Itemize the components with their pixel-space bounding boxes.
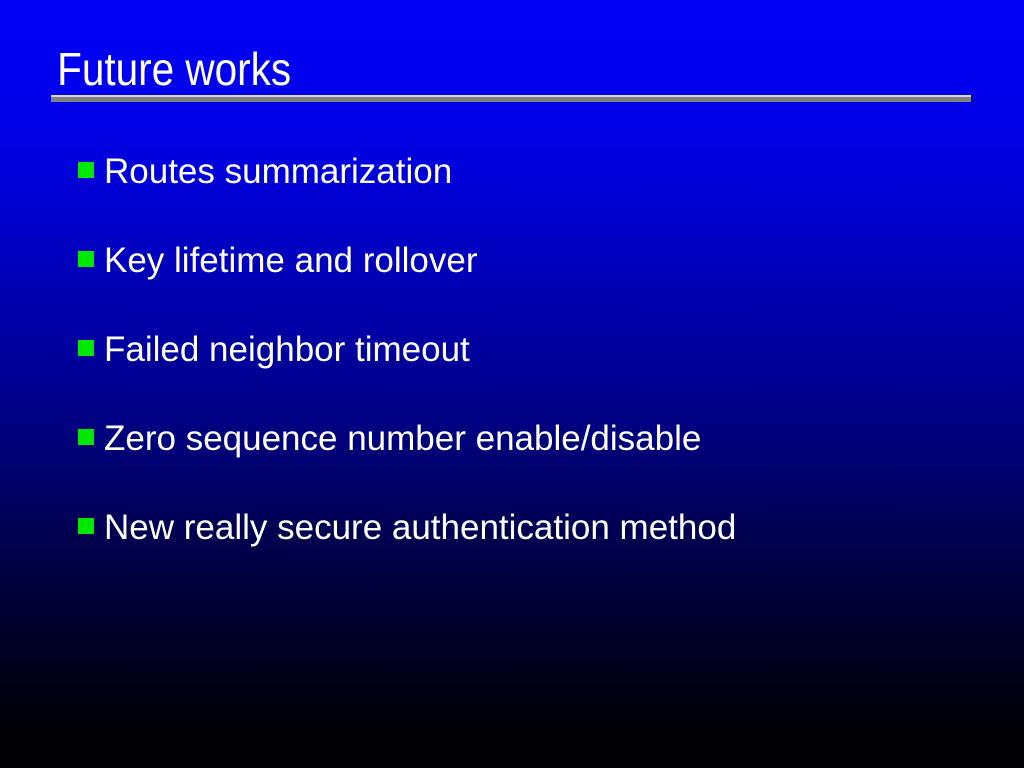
bullet-item-label: Failed neighbor timeout xyxy=(104,331,978,369)
bullet-item-label: Routes summarization xyxy=(104,153,978,191)
rule-body-line xyxy=(51,97,971,102)
list-item: New really secure authentication method xyxy=(78,509,978,598)
green-square-bullet-icon xyxy=(78,518,94,534)
page-title: Future works xyxy=(51,44,861,94)
title-underline-rule xyxy=(51,95,971,103)
bullet-list: Routes summarization Key lifetime and ro… xyxy=(78,153,978,598)
green-square-bullet-icon xyxy=(78,340,94,356)
list-item: Failed neighbor timeout xyxy=(78,331,978,420)
list-item: Key lifetime and rollover xyxy=(78,242,978,331)
green-square-bullet-icon xyxy=(78,429,94,445)
bullet-item-label: Zero sequence number enable/disable xyxy=(104,420,978,458)
list-item: Zero sequence number enable/disable xyxy=(78,420,978,509)
presentation-slide: Future works Routes summarization Key li… xyxy=(0,0,1024,768)
list-item: Routes summarization xyxy=(78,153,978,242)
green-square-bullet-icon xyxy=(78,251,94,267)
title-block: Future works xyxy=(51,44,971,94)
green-square-bullet-icon xyxy=(78,162,94,178)
bullet-item-label: Key lifetime and rollover xyxy=(104,242,978,280)
bullet-item-label: New really secure authentication method xyxy=(104,509,978,547)
